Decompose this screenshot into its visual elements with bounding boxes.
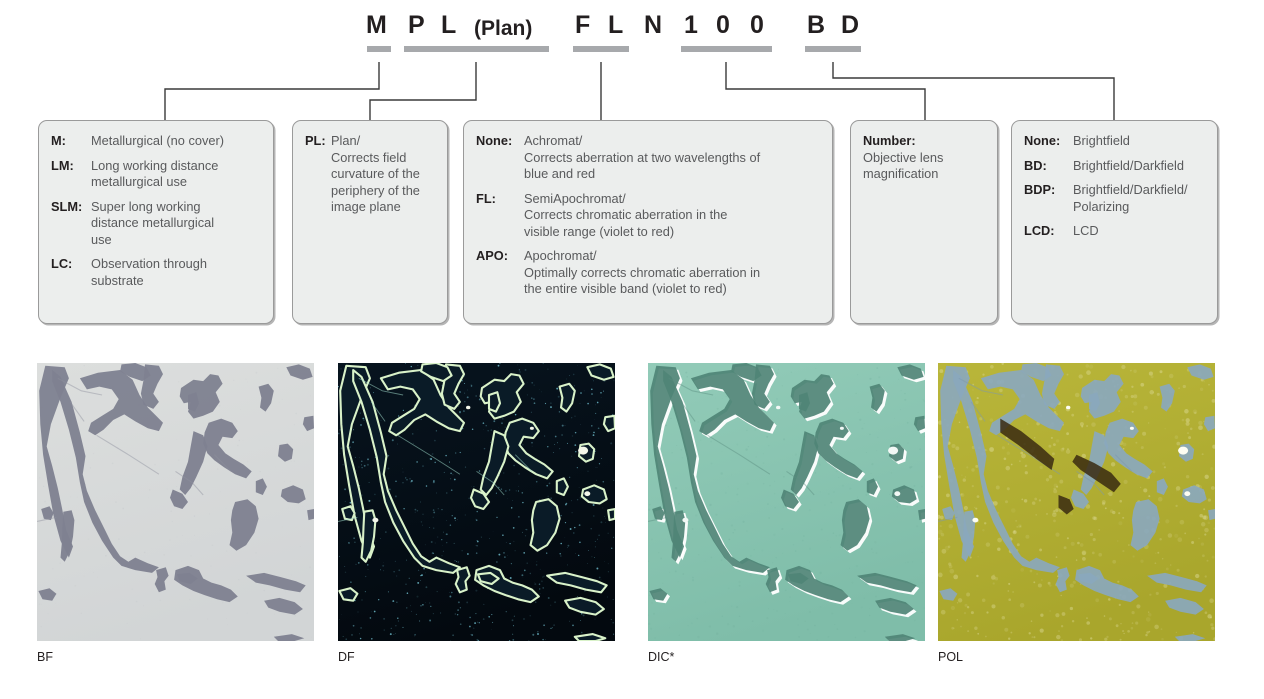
definition-box-magnification: Number: Objective lens magnification <box>850 120 998 324</box>
definition-key: BDP: <box>1024 182 1073 199</box>
micrograph-label: DIC* <box>648 649 674 665</box>
micrograph-label: DF <box>338 649 355 665</box>
code-token-l: L <box>608 8 623 42</box>
definition-value: Super long working distance metallurgica… <box>91 199 263 249</box>
definition-box-correction: None: Achromat/ Corrects aberration at t… <box>463 120 833 324</box>
definition-value: Brightfield <box>1073 133 1207 150</box>
definition-value: Observation through substrate <box>91 256 263 289</box>
definition-value: Long working distance metallurgical use <box>91 158 263 191</box>
micrograph-dic: DIC* <box>648 363 925 641</box>
definition-row: LCD: LCD <box>1024 223 1207 240</box>
definition-value: Achromat/ Corrects aberration at two wav… <box>524 133 822 183</box>
micrograph-image-dic <box>648 363 925 641</box>
definition-row: PL: Plan/ Corrects field curvature of th… <box>305 133 437 216</box>
definition-row: None: Achromat/ Corrects aberration at t… <box>476 133 822 183</box>
underline-fl <box>573 46 629 52</box>
definition-row: SLM: Super long working distance metallu… <box>51 199 263 249</box>
definition-row: LC: Observation through substrate <box>51 256 263 289</box>
definition-key: None: <box>1024 133 1073 150</box>
definition-value: Brightfield/Darkfield/ Polarizing <box>1073 182 1207 215</box>
definition-row: None: Brightfield <box>1024 133 1207 150</box>
code-token-n: N <box>644 8 662 42</box>
code-token-m: M <box>366 8 387 42</box>
code-token-l: L <box>441 8 456 42</box>
definition-row: BD: Brightfield/Darkfield <box>1024 158 1207 175</box>
micrograph-label: BF <box>37 649 53 665</box>
micrograph-darkfield: DF <box>338 363 615 641</box>
code-token-1: 1 <box>684 8 698 42</box>
micrograph-label: POL <box>938 649 963 665</box>
definition-row: M: Metallurgical (no cover) <box>51 133 263 150</box>
definition-value: Apochromat/ Optimally corrects chromatic… <box>524 248 822 298</box>
code-token-p: P <box>408 8 425 42</box>
micrograph-image-df <box>338 363 615 641</box>
definition-row: LM: Long working distance metallurgical … <box>51 158 263 191</box>
definition-value: Objective lens magnification <box>863 150 987 183</box>
definition-row: APO: Apochromat/ Optimally corrects chro… <box>476 248 822 298</box>
micrograph-image-bf <box>37 363 314 641</box>
underline-bd <box>805 46 861 52</box>
definition-box-prefix: M: Metallurgical (no cover) LM: Long wor… <box>38 120 274 324</box>
definition-key: APO: <box>476 248 524 265</box>
code-token-b: B <box>807 8 825 42</box>
definition-value: SemiApochromat/ Corrects chromatic aberr… <box>524 191 822 241</box>
definition-value: Brightfield/Darkfield <box>1073 158 1207 175</box>
definition-key: M: <box>51 133 91 150</box>
definition-key: LCD: <box>1024 223 1073 240</box>
definition-key: PL: <box>305 133 331 150</box>
definition-key: Number: <box>863 133 987 150</box>
definition-value: Plan/ Corrects field curvature of the pe… <box>331 133 437 216</box>
definition-key: SLM: <box>51 199 91 216</box>
definition-key: LM: <box>51 158 91 175</box>
code-token-f: F <box>575 8 590 42</box>
definition-key: LC: <box>51 256 91 273</box>
definition-row: FL: SemiApochromat/ Corrects chromatic a… <box>476 191 822 241</box>
definition-key: BD: <box>1024 158 1073 175</box>
underline-number <box>681 46 772 52</box>
code-token-d: D <box>841 8 859 42</box>
micrograph-brightfield: BF <box>37 363 314 641</box>
definition-key: FL: <box>476 191 524 208</box>
definition-key: None: <box>476 133 524 150</box>
code-token-0: 0 <box>750 8 764 42</box>
definition-value: LCD <box>1073 223 1207 240</box>
definition-box-observation-method: None: Brightfield BD: Brightfield/Darkfi… <box>1011 120 1218 324</box>
objective-nomenclature-diagram: MPL(Plan)FLN100BD M: Metallurgical (no c… <box>0 0 1264 699</box>
code-token-plan: (Plan) <box>474 12 532 46</box>
definition-box-plan: PL: Plan/ Corrects field curvature of th… <box>292 120 448 324</box>
objective-code-line: MPL(Plan)FLN100BD <box>0 8 1264 56</box>
micrograph-image-pol <box>938 363 1215 641</box>
definition-row: BDP: Brightfield/Darkfield/ Polarizing <box>1024 182 1207 215</box>
underline-pl <box>404 46 549 52</box>
definition-value: Metallurgical (no cover) <box>91 133 263 150</box>
underline-m <box>367 46 391 52</box>
code-token-0: 0 <box>716 8 730 42</box>
micrograph-polarized: POL <box>938 363 1215 641</box>
